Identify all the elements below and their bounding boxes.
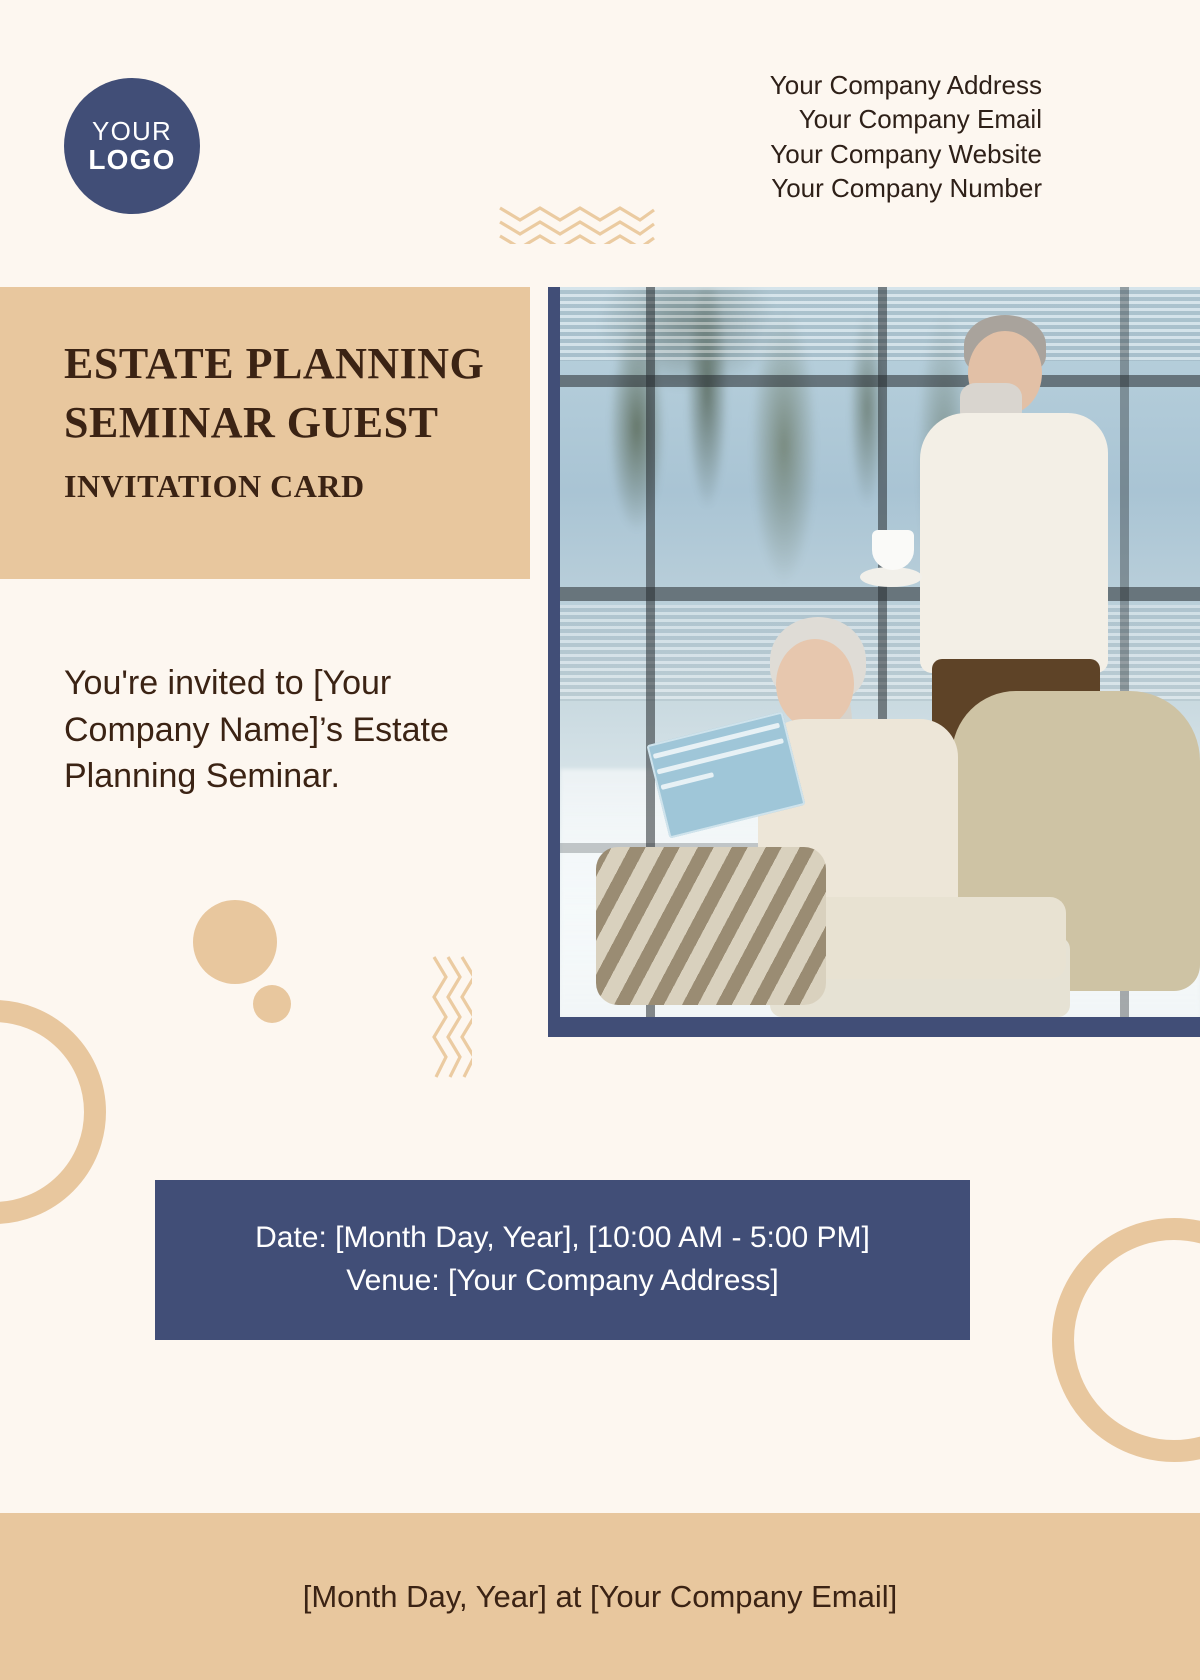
- footer-band: [Month Day, Year] at [Your Company Email…: [0, 1513, 1200, 1680]
- rsvp-footer-text: [Month Day, Year] at [Your Company Email…: [303, 1579, 897, 1615]
- coffee-saucer: [860, 567, 922, 587]
- title-band: ESTATE PLANNING SEMINAR GUEST INVITATION…: [0, 287, 530, 579]
- tan-ring-right-decoration: [1052, 1218, 1200, 1462]
- title-line-3: INVITATION CARD: [64, 462, 512, 510]
- contact-website: Your Company Website: [522, 137, 1042, 171]
- event-details-banner: Date: [Month Day, Year], [10:00 AM - 5:0…: [155, 1180, 970, 1340]
- lap-blanket: [596, 847, 826, 1005]
- title-line-2: SEMINAR GUEST: [64, 394, 512, 453]
- company-contact-block: Your Company Address Your Company Email …: [522, 68, 1042, 205]
- tan-ring-left-decoration: [0, 1000, 106, 1224]
- logo-line-2: LOGO: [88, 145, 175, 174]
- brochure-line-2: [657, 738, 784, 774]
- event-venue-line: Venue: [Your Company Address]: [346, 1260, 779, 1303]
- woman-legs: [796, 897, 1066, 979]
- seminar-photo: [560, 287, 1200, 1017]
- man-torso: [920, 413, 1108, 673]
- invitation-card: YOUR LOGO Your Company Address Your Comp…: [0, 0, 1200, 1680]
- contact-email: Your Company Email: [522, 102, 1042, 136]
- title-line-1: ESTATE PLANNING: [64, 335, 512, 394]
- tan-circle-large-decoration: [193, 900, 277, 984]
- event-date-line: Date: [Month Day, Year], [10:00 AM - 5:0…: [255, 1217, 870, 1260]
- tan-circle-small-decoration: [253, 985, 291, 1023]
- brochure-line-3: [661, 772, 715, 790]
- logo-line-1: YOUR: [92, 118, 172, 145]
- woman-head: [776, 639, 854, 729]
- photo-frame: [548, 287, 1200, 1037]
- contact-address: Your Company Address: [522, 68, 1042, 102]
- vertical-zigzag-icon: [424, 955, 472, 1080]
- company-logo-badge: YOUR LOGO: [64, 78, 200, 214]
- contact-number: Your Company Number: [522, 171, 1042, 205]
- coffee-cup: [872, 530, 914, 570]
- invitation-copy: You're invited to [Your Company Name]’s …: [64, 660, 516, 800]
